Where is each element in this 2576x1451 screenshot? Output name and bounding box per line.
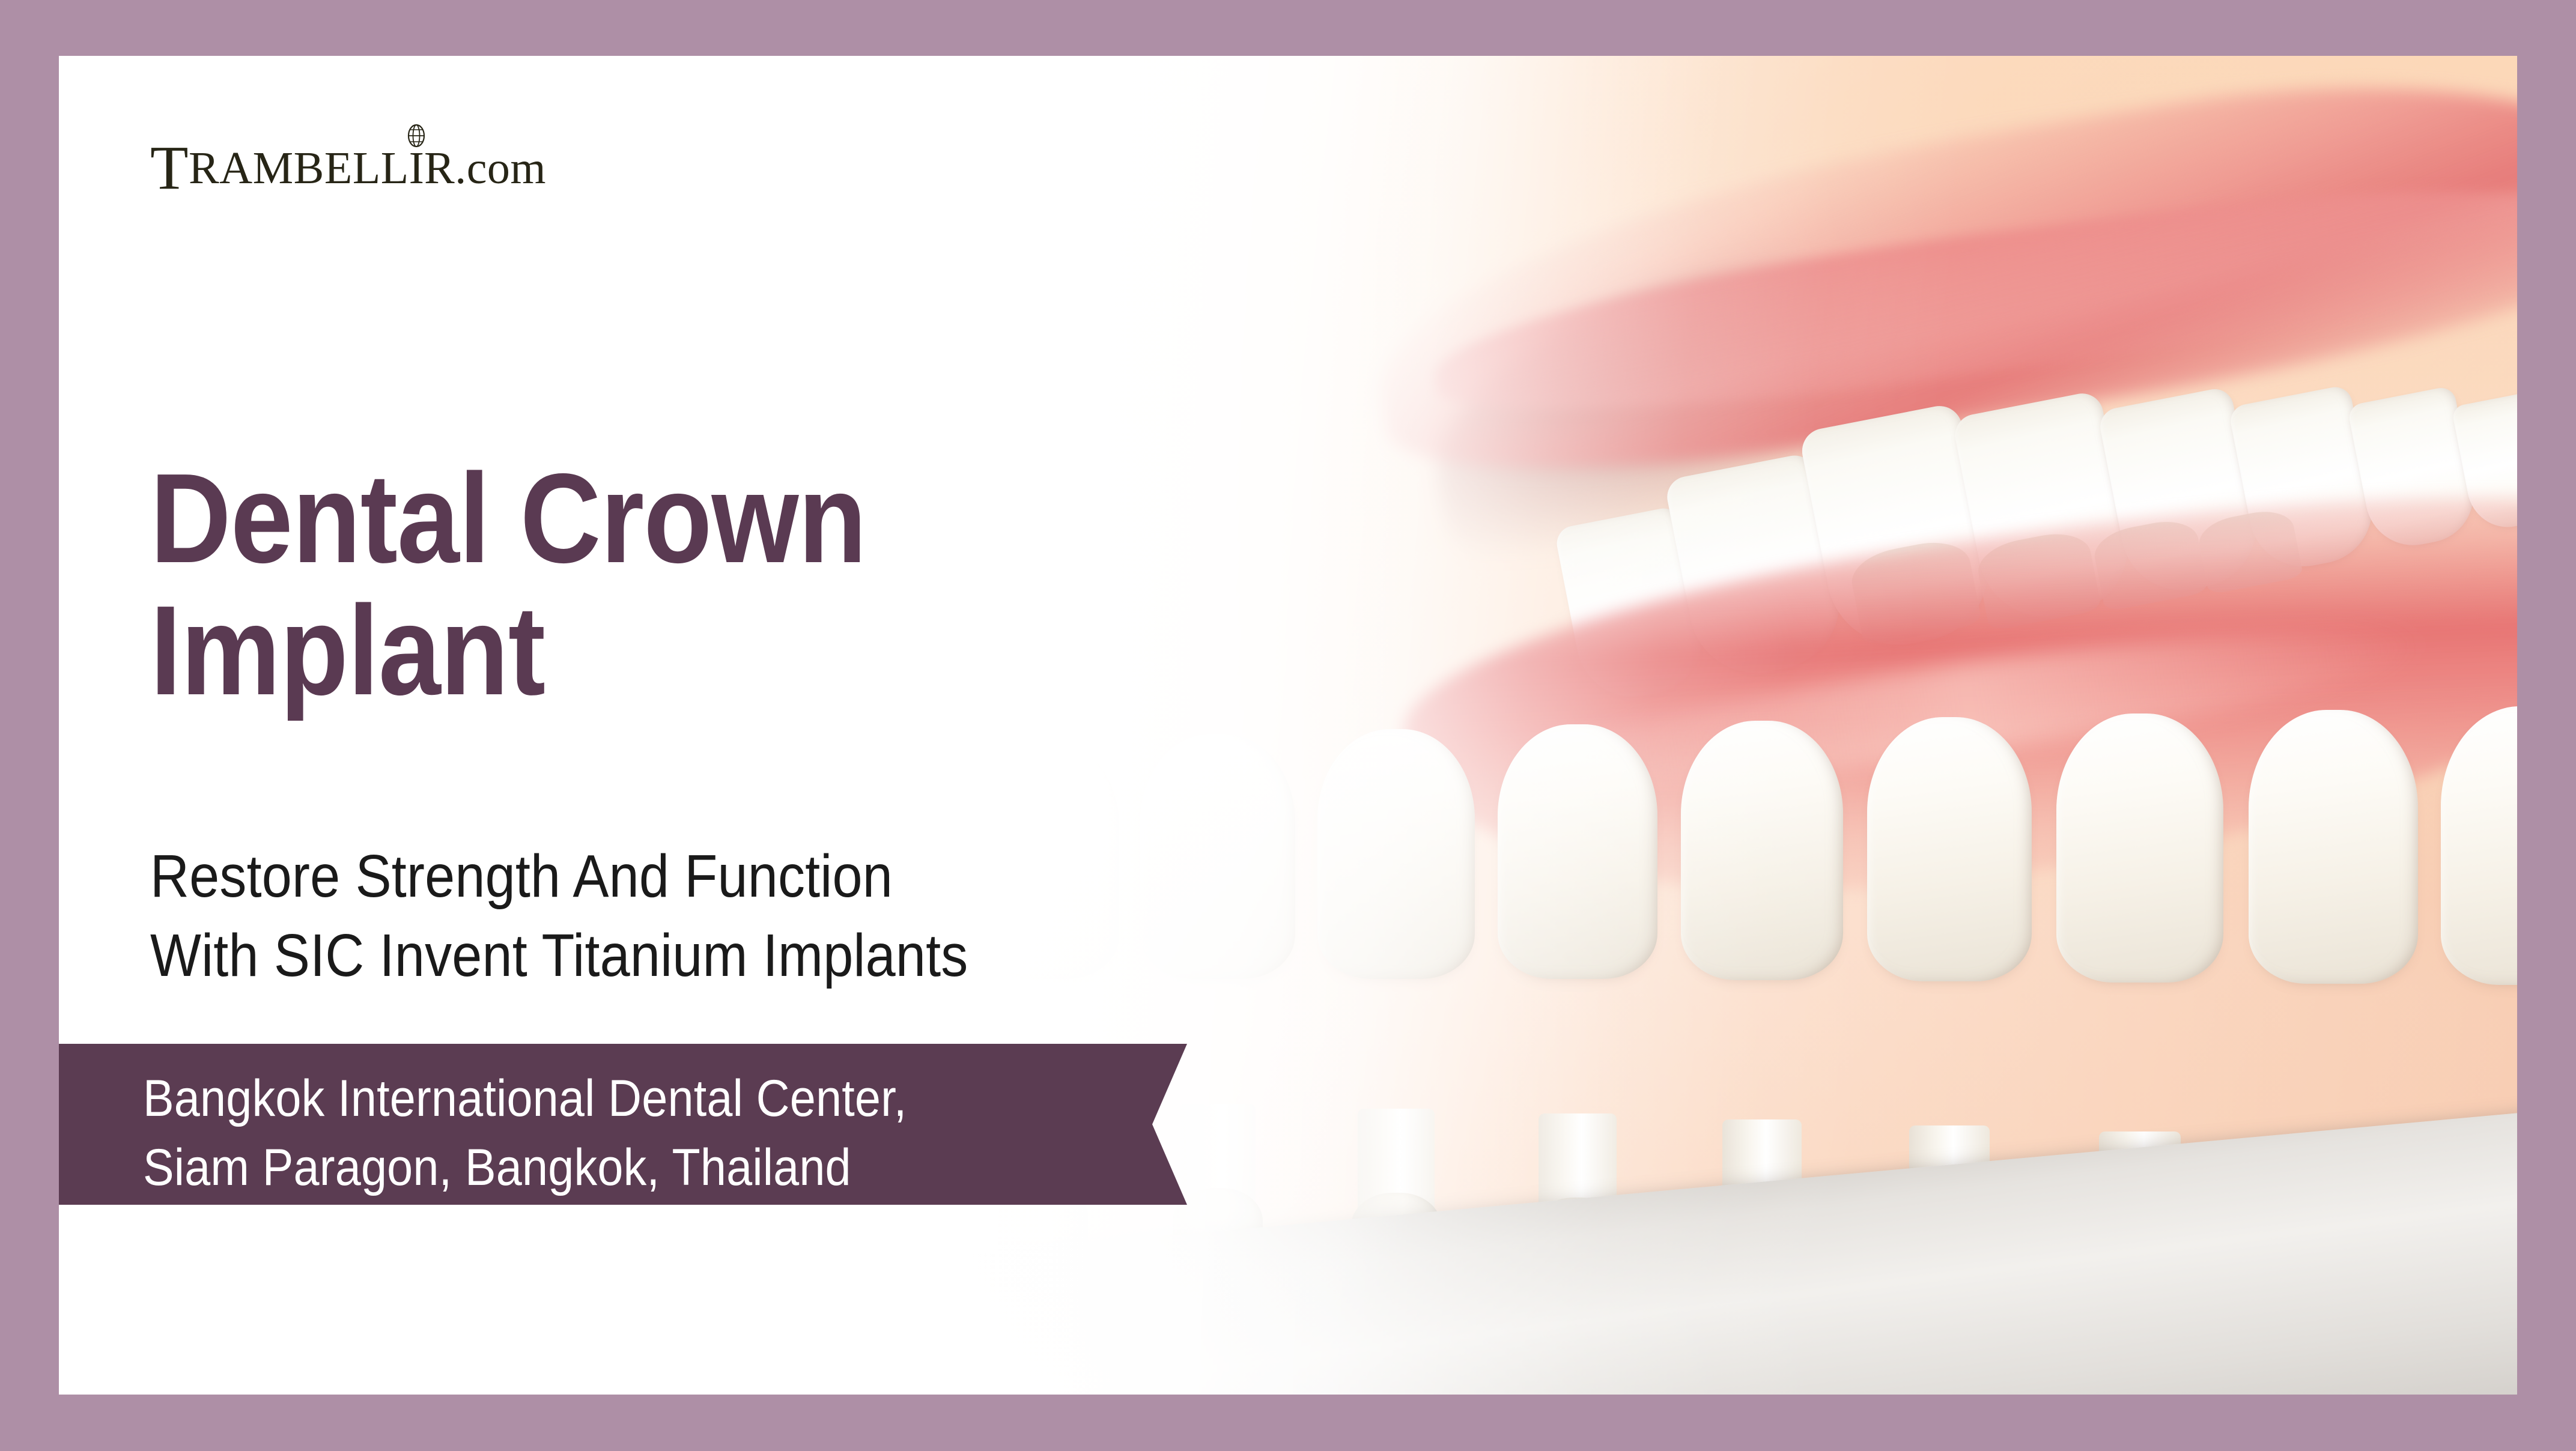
logo-tld: .com: [455, 139, 546, 198]
poster-content: T RAMBE LL I R .c: [59, 56, 2517, 1395]
location-ribbon-text: Bangkok International Dental Center, Sia…: [143, 1064, 907, 1202]
logo-i-wrapper: I: [409, 139, 424, 198]
subtitle: Restore Strength And Function With SIC I…: [150, 837, 968, 995]
logo-i-letter: I: [409, 143, 424, 193]
brand-logo[interactable]: T RAMBE LL I R .c: [150, 139, 546, 198]
logo-smallcaps: RAMBE: [189, 139, 353, 198]
globe-icon: [406, 123, 427, 148]
logo-after-i: R: [424, 139, 455, 198]
poster-root: A4 B1 B2 B3: [0, 0, 2576, 1451]
page-title: Dental Crown Implant: [150, 452, 866, 717]
location-ribbon: Bangkok International Dental Center, Sia…: [59, 1044, 1187, 1205]
logo-double-l: LL: [353, 139, 409, 198]
poster-card: A4 B1 B2 B3: [59, 56, 2517, 1395]
logo-lead-letter: T: [150, 139, 189, 198]
